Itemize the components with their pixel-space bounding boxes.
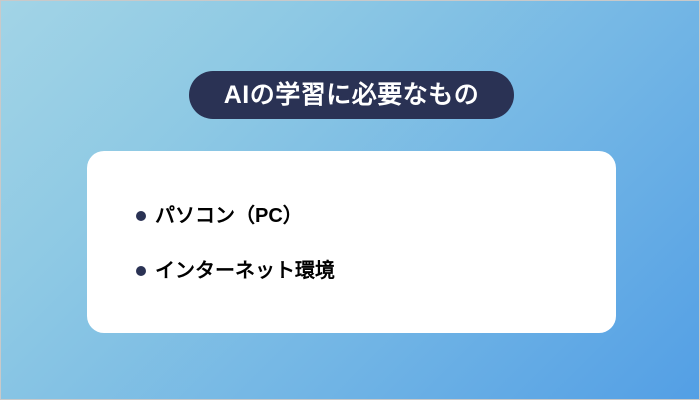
slide-canvas: AIの学習に必要なもの パソコン（PC） インターネット環境 — [0, 0, 700, 400]
bullet-list: パソコン（PC） インターネット環境 — [136, 203, 616, 284]
title-badge: AIの学習に必要なもの — [189, 71, 514, 119]
list-item-label: インターネット環境 — [155, 258, 335, 284]
content-card: パソコン（PC） インターネット環境 — [87, 151, 616, 333]
bullet-dot-icon — [136, 211, 146, 221]
list-item-label: パソコン（PC） — [155, 203, 303, 229]
list-item: パソコン（PC） — [136, 203, 616, 229]
list-item: インターネット環境 — [136, 258, 616, 284]
page-title: AIの学習に必要なもの — [224, 83, 480, 108]
bullet-dot-icon — [136, 266, 146, 276]
